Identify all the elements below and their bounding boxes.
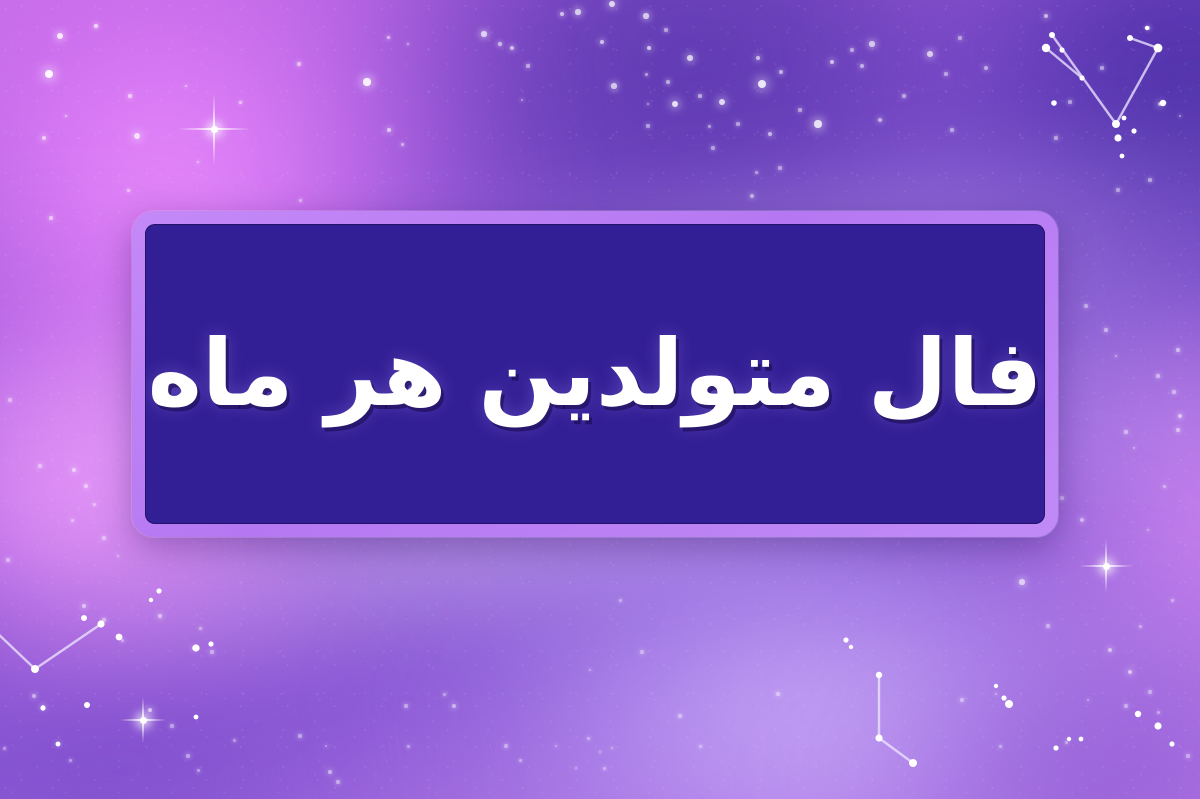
banner-canvas: فال متولدین هر ماه: [0, 0, 1200, 799]
title-card: فال متولدین هر ماه: [132, 211, 1058, 537]
page-title: فال متولدین هر ماه: [148, 322, 1043, 425]
title-card-inner: فال متولدین هر ماه: [145, 224, 1045, 524]
